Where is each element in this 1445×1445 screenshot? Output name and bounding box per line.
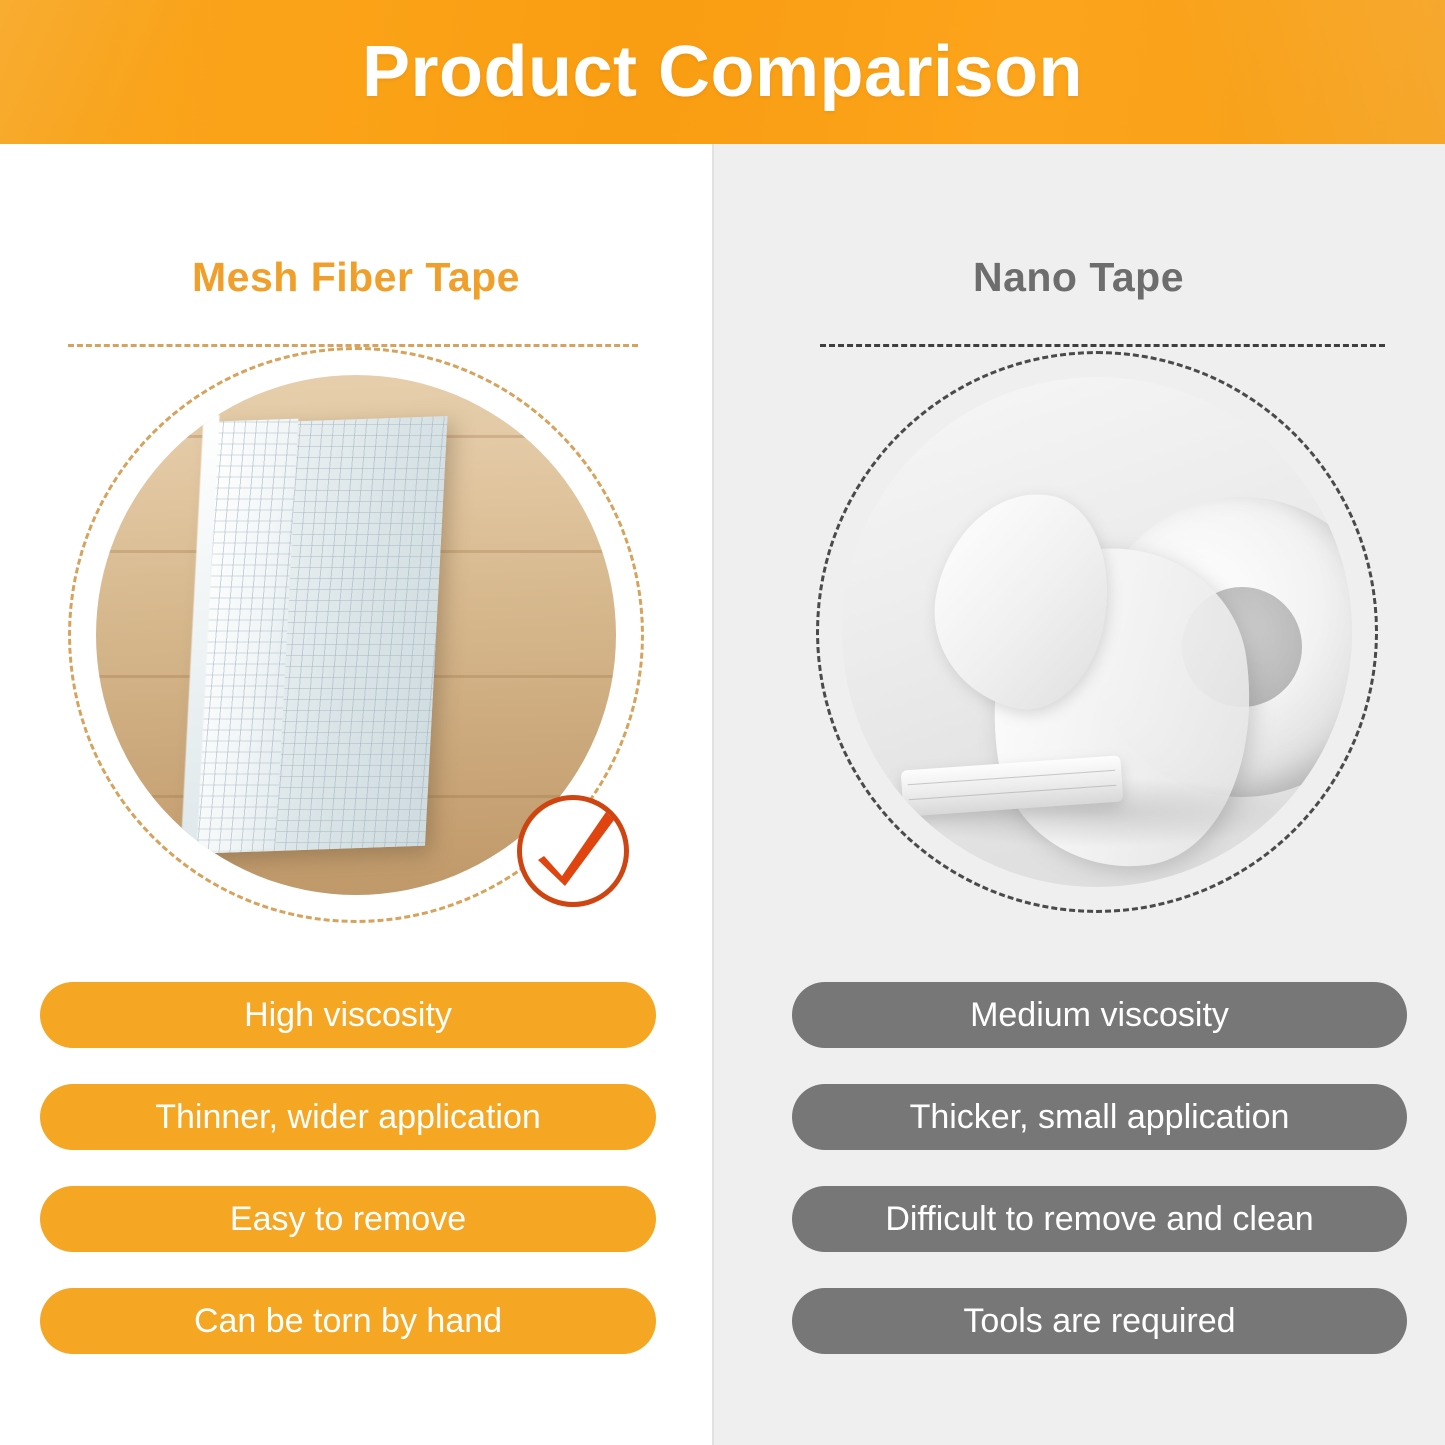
header-banner: Product Comparison	[0, 0, 1445, 144]
list-item: Medium viscosity	[792, 982, 1407, 1048]
list-item: High viscosity	[40, 982, 656, 1048]
left-panel-title: Mesh Fiber Tape	[0, 254, 712, 301]
right-product-photo	[842, 377, 1352, 887]
page-title: Product Comparison	[362, 31, 1083, 113]
list-item: Thinner, wider application	[40, 1084, 656, 1150]
list-item: Can be torn by hand	[40, 1288, 656, 1354]
list-item: Thicker, small application	[792, 1084, 1407, 1150]
list-item: Easy to remove	[40, 1186, 656, 1252]
list-item: Tools are required	[792, 1288, 1407, 1354]
nano-tape-image	[842, 377, 1352, 887]
right-panel-title: Nano Tape	[712, 254, 1445, 301]
panel-nano-tape: Nano Tape Medium viscosity Thicker, smal…	[712, 144, 1445, 1445]
panel-mesh-fiber-tape: Mesh Fiber Tape	[0, 144, 712, 1445]
check-icon	[522, 800, 624, 902]
right-feature-list: Medium viscosity Thicker, small applicat…	[712, 982, 1445, 1390]
check-badge	[517, 795, 629, 907]
left-feature-list: High viscosity Thinner, wider applicatio…	[0, 982, 712, 1390]
panel-divider	[712, 144, 714, 1445]
list-item: Difficult to remove and clean	[792, 1186, 1407, 1252]
right-title-divider	[820, 344, 1385, 347]
comparison-panels: Mesh Fiber Tape	[0, 144, 1445, 1445]
